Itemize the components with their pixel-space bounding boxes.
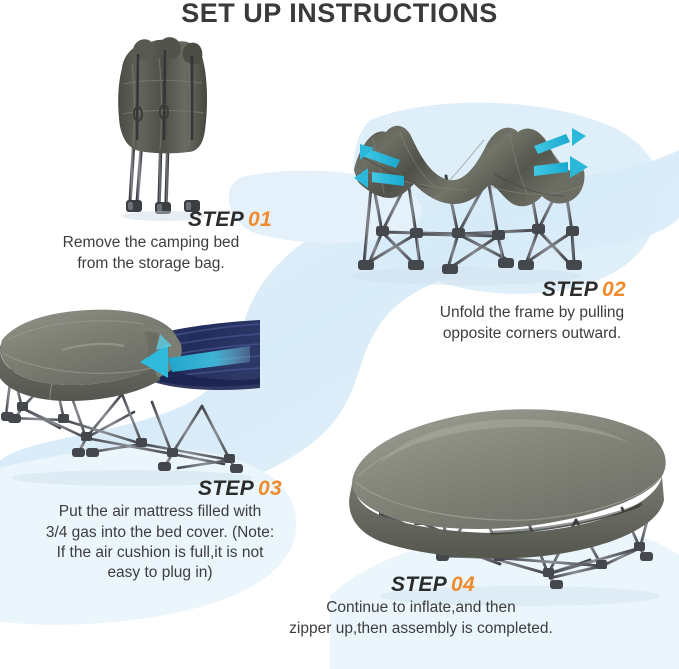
step-02-body: Unfold the frame by pulling opposite cor… bbox=[400, 303, 664, 344]
step-03-caption: STEP03 Put the air mattress filled with … bbox=[16, 477, 304, 584]
step-03-number: 03 bbox=[258, 477, 282, 500]
step-02-label: STEP bbox=[542, 278, 598, 301]
step-04-number: 04 bbox=[451, 573, 475, 596]
instruction-poster: SET UP INSTRUCTIONS bbox=[0, 0, 679, 669]
step-01-caption: STEP01 Remove the camping bed from the s… bbox=[22, 208, 280, 274]
step-03-body: Put the air mattress filled with 3/4 gas… bbox=[16, 502, 304, 584]
pull-arrow-icons bbox=[354, 128, 588, 188]
step-01-heading: STEP01 bbox=[22, 208, 280, 231]
page-title: SET UP INSTRUCTIONS bbox=[0, 0, 679, 29]
illustration-step-03 bbox=[0, 288, 260, 488]
step-04-heading: STEP04 bbox=[280, 573, 562, 596]
step-04-body: Continue to inflate,and then zipper up,t… bbox=[280, 598, 562, 639]
illustration-step-02 bbox=[338, 104, 594, 286]
step-02-caption: STEP02 Unfold the frame by pulling oppos… bbox=[400, 278, 664, 344]
step-03-label: STEP bbox=[198, 477, 254, 500]
step-02-number: 02 bbox=[602, 278, 626, 301]
step-04-caption: STEP04 Continue to inflate,and then zipp… bbox=[280, 573, 562, 639]
step-03-heading: STEP03 bbox=[16, 477, 304, 500]
step-01-body: Remove the camping bed from the storage … bbox=[22, 233, 280, 274]
insert-arrow-icon bbox=[140, 334, 250, 378]
step-04-label: STEP bbox=[391, 573, 447, 596]
step-01-number: 01 bbox=[248, 208, 272, 231]
step-01-label: STEP bbox=[188, 208, 244, 231]
illustration-step-01 bbox=[104, 34, 224, 226]
step-02-heading: STEP02 bbox=[400, 278, 664, 301]
